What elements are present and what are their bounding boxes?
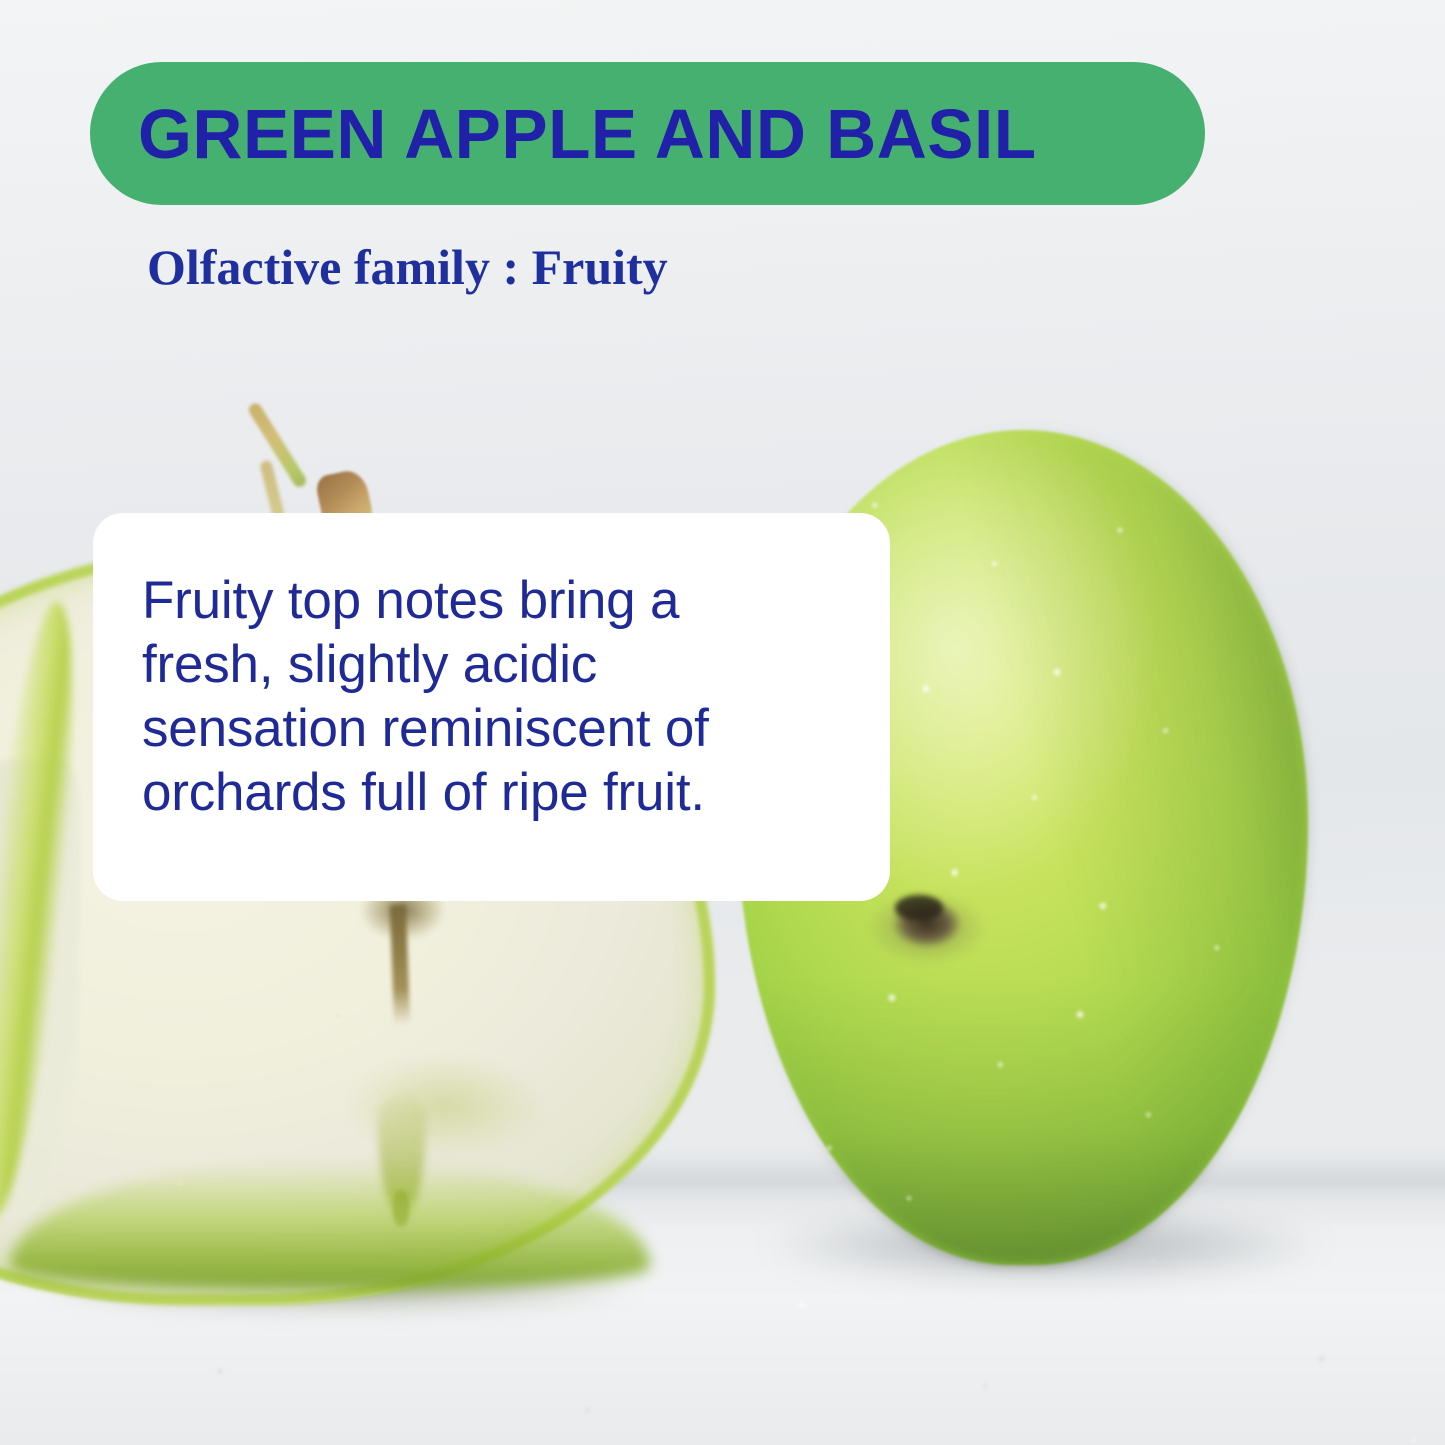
apple-core-vein-upper: [330, 1048, 560, 1178]
apple-calyx: [862, 880, 992, 975]
olfactive-family-label: Olfactive family : Fruity: [147, 240, 668, 295]
page-title: GREEN APPLE AND BASIL: [138, 99, 1037, 169]
description-card: Fruity top notes bring a fresh, slightly…: [93, 513, 890, 901]
description-text: Fruity top notes bring a fresh, slightly…: [142, 569, 842, 825]
apple-calyx-center: [895, 895, 943, 921]
title-banner: GREEN APPLE AND BASIL: [90, 62, 1205, 205]
product-scent-card: GREEN APPLE AND BASIL Olfactive family :…: [0, 0, 1445, 1445]
